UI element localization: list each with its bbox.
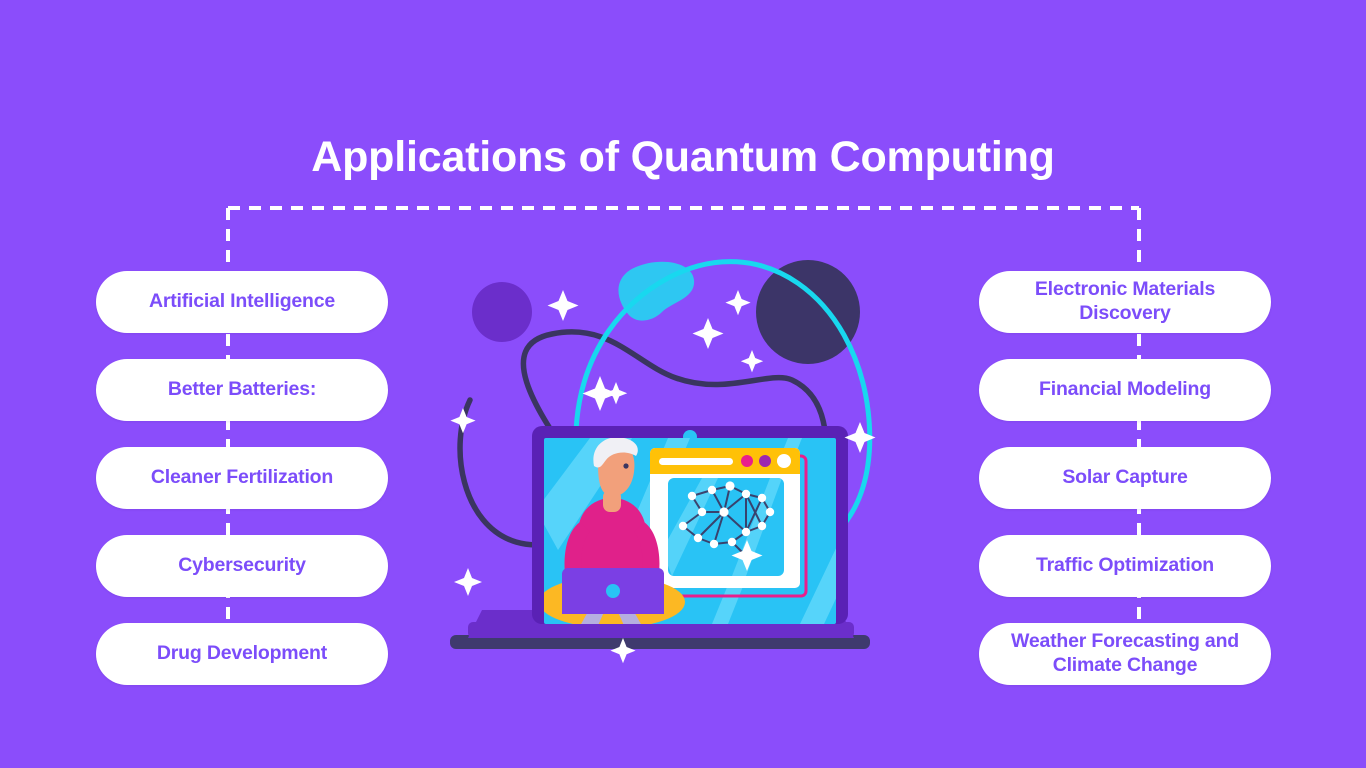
sparkle-icon xyxy=(725,290,750,315)
left-applications-column: Artificial Intelligence Better Batteries… xyxy=(96,271,388,685)
application-card-artificial-intelligence[interactable]: Artificial Intelligence xyxy=(96,271,388,333)
sparkle-icon xyxy=(450,408,475,433)
application-card-traffic-optimization[interactable]: Traffic Optimization xyxy=(979,535,1271,597)
decorative-circle-large-navy xyxy=(756,260,860,364)
application-card-label: Solar Capture xyxy=(1062,466,1187,490)
sparkle-icon xyxy=(741,350,763,372)
sparkle-icon xyxy=(454,568,482,596)
application-card-label: Electronic Materials Discovery xyxy=(993,278,1257,326)
sparkle-icon xyxy=(605,382,627,404)
application-card-cybersecurity[interactable]: Cybersecurity xyxy=(96,535,388,597)
application-card-label: Weather Forecasting and Climate Change xyxy=(993,630,1257,678)
laptop-base-front xyxy=(468,622,854,638)
application-card-drug-development[interactable]: Drug Development xyxy=(96,623,388,685)
browser-dot-magenta xyxy=(741,455,753,467)
person-eye xyxy=(623,463,628,468)
application-card-solar-capture[interactable]: Solar Capture xyxy=(979,447,1271,509)
application-card-cleaner-fertilization[interactable]: Cleaner Fertilization xyxy=(96,447,388,509)
application-card-electronic-materials-discovery[interactable]: Electronic Materials Discovery xyxy=(979,271,1271,333)
application-card-label: Drug Development xyxy=(157,642,327,666)
application-card-label: Cleaner Fertilization xyxy=(151,466,333,490)
application-card-weather-forecasting-climate-change[interactable]: Weather Forecasting and Climate Change xyxy=(979,623,1271,685)
application-card-label: Artificial Intelligence xyxy=(149,290,335,314)
page-title: Applications of Quantum Computing xyxy=(0,134,1366,181)
application-card-label: Better Batteries: xyxy=(168,378,316,402)
application-card-label: Financial Modeling xyxy=(1039,378,1211,402)
sparkle-icon xyxy=(548,290,579,321)
application-card-label: Traffic Optimization xyxy=(1036,554,1214,578)
browser-dot-white xyxy=(777,454,791,468)
quantum-computing-illustration xyxy=(440,250,940,670)
application-card-better-batteries[interactable]: Better Batteries: xyxy=(96,359,388,421)
person-laptop-logo-icon xyxy=(606,584,620,598)
infographic-canvas: Applications of Quantum Computing xyxy=(0,0,1366,768)
application-card-label: Cybersecurity xyxy=(178,554,305,578)
browser-url-pill xyxy=(659,458,733,465)
application-card-financial-modeling[interactable]: Financial Modeling xyxy=(979,359,1271,421)
sparkle-icon xyxy=(693,318,724,349)
browser-dot-purple xyxy=(759,455,771,467)
right-applications-column: Electronic Materials Discovery Financial… xyxy=(979,271,1271,685)
decorative-circle-small-purple xyxy=(472,282,532,342)
